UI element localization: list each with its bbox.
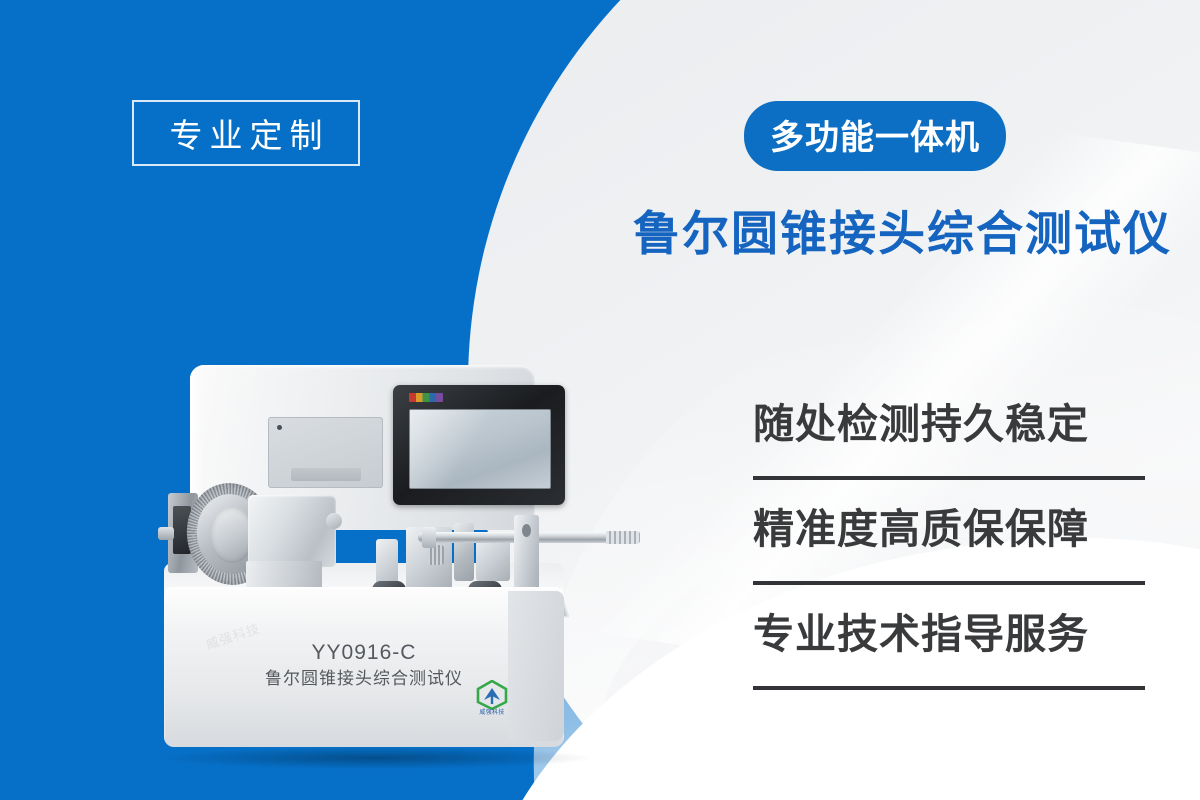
shaft-collar: [422, 527, 436, 548]
feature-divider: [753, 476, 1145, 480]
machine-model-number: YY0916-C: [164, 640, 564, 666]
left-clamp-pin: [158, 527, 174, 540]
multifunction-pill-badge: 多功能一体机: [744, 101, 1006, 171]
page-title: 鲁尔圆锥接头综合测试仪: [633, 195, 1172, 264]
machine-drop-shadow: [160, 747, 590, 769]
feature-divider: [753, 686, 1145, 690]
motor-end-cap: [326, 513, 342, 529]
feature-label: 精准度高质保保障: [753, 503, 1147, 550]
hmi-screen-display[interactable]: [409, 409, 551, 489]
banner-stage: 专业定制 多功能一体机 鲁尔圆锥接头综合测试仪 随处检测持久稳定 精准度高质保保…: [0, 0, 1200, 800]
feature-label: 专业技术指导服务: [753, 608, 1147, 655]
custom-service-badge-label: 专业定制: [163, 109, 330, 157]
feature-list: 随处检测持久稳定 精准度高质保保障 专业技术指导服务: [753, 398, 1147, 713]
hmi-brand-logo-icon: [409, 393, 443, 402]
feature-label: 随处检测持久稳定: [753, 398, 1147, 445]
custom-service-badge: 专业定制: [132, 100, 360, 166]
fixture-knurled-cap[interactable]: [428, 545, 444, 565]
drive-motor-housing: [248, 495, 336, 567]
feature-divider: [753, 581, 1145, 585]
hexagon-logo-icon: [476, 680, 508, 710]
brand-logo: 威强科技: [468, 680, 516, 724]
feature-item: 专业技术指导服务: [753, 608, 1147, 713]
console-access-panel: [268, 417, 383, 488]
feature-item: 精准度高质保保障: [753, 503, 1147, 608]
hmi-touchscreen-bezel: [393, 385, 565, 505]
product-machine-image: 威强科技 YY0916-C 鲁尔圆锥接头综合测试仪 威强科技: [150, 355, 670, 775]
brand-logo-name: 威强科技: [468, 710, 516, 717]
multifunction-pill-label: 多功能一体机: [770, 110, 980, 159]
shaft-threaded-tip: [606, 531, 640, 544]
feature-item: 随处检测持久稳定: [753, 398, 1147, 503]
